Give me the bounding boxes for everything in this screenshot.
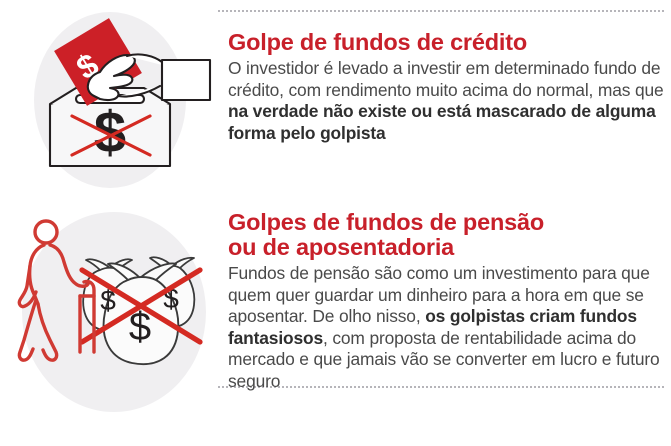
infographic-root: $ $ (0, 0, 671, 446)
heading-credit: Golpe de fundos de crédito (228, 30, 664, 55)
ballot-box-money-illustration: $ $ (14, 0, 218, 200)
shirt-cuff (162, 60, 210, 100)
text-block-pension: Golpes de fundos de pensão ou de aposent… (228, 210, 664, 392)
body-credit: O investidor é levado a investir em dete… (228, 58, 664, 144)
section-credit-fund-scam: $ $ (0, 0, 671, 200)
body-pension: Fundos de pensão são como um investiment… (228, 263, 664, 392)
section-pension-fund-scam: $ $ $ (0, 200, 671, 446)
divider-top (218, 10, 664, 14)
illustration-ballot-box: $ $ (14, 0, 218, 200)
elderly-person-money-bags-illustration: $ $ $ (14, 200, 218, 446)
text-block-credit: Golpe de fundos de crédito O investidor … (228, 30, 664, 144)
illustration-elderly-money-bags: $ $ $ (14, 200, 218, 446)
dollar-sign-on-box: $ (94, 100, 126, 165)
svg-text:$: $ (94, 100, 126, 165)
heading-pension: Golpes de fundos de pensão ou de aposent… (228, 210, 664, 260)
